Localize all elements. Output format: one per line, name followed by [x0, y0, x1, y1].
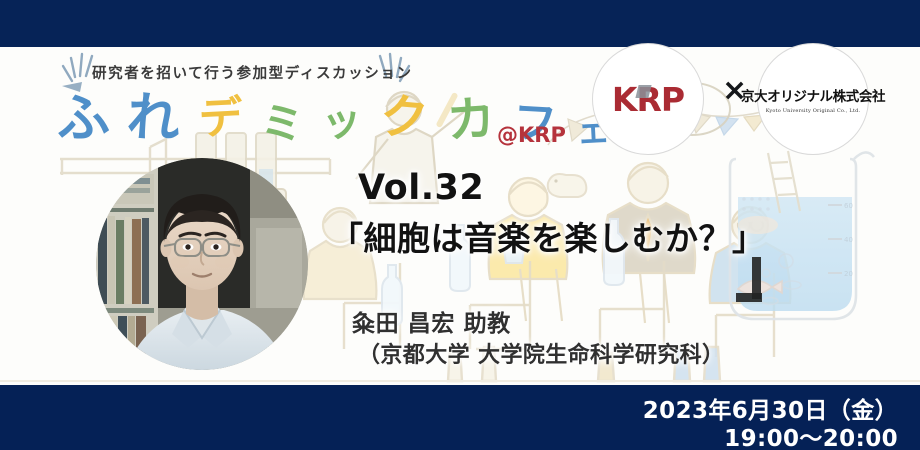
brand-char-7: カ — [445, 94, 496, 145]
svg-text:60: 60 — [844, 202, 853, 210]
brand-char-3: デ — [198, 96, 244, 142]
svg-text:40: 40 — [844, 236, 853, 244]
event-time: 19:00～20:00 — [724, 419, 898, 450]
venue-tag: @KRP — [497, 123, 566, 147]
brand-char-5: ッ — [320, 100, 364, 144]
top-navy-bar — [0, 0, 920, 47]
brand-char-2: れ — [126, 90, 183, 147]
poster-root: 604020 — [0, 0, 920, 450]
kuo-name-jp: 京大オリジナル株式会社 — [741, 85, 885, 105]
session-title: 「細胞は音楽を楽しむか？」 — [330, 212, 766, 260]
krp-wordmark: KRP — [612, 80, 684, 119]
brand-char-6: ク — [378, 92, 430, 144]
brand-char-1: ふ — [54, 90, 111, 147]
speaker-portrait — [96, 158, 308, 370]
kuo-name-en: Kyoto University Original Co., Ltd. — [766, 108, 861, 114]
speaker-name: 粂田 昌宏 助教 — [352, 304, 511, 338]
brand-char-4: ミ — [260, 102, 304, 146]
svg-text:20: 20 — [844, 270, 853, 278]
kyoto-university-original-logo: 京大オリジナル株式会社 Kyoto University Original Co… — [757, 43, 869, 155]
krp-logo: KRP — [592, 43, 704, 155]
speaker-affiliation: （京都大学 大学院生命科学研究科） — [358, 337, 724, 369]
volume-number: Vol.32 — [358, 168, 484, 208]
tagline: 研究者を招いて行う参加型ディスカッション — [92, 62, 413, 83]
